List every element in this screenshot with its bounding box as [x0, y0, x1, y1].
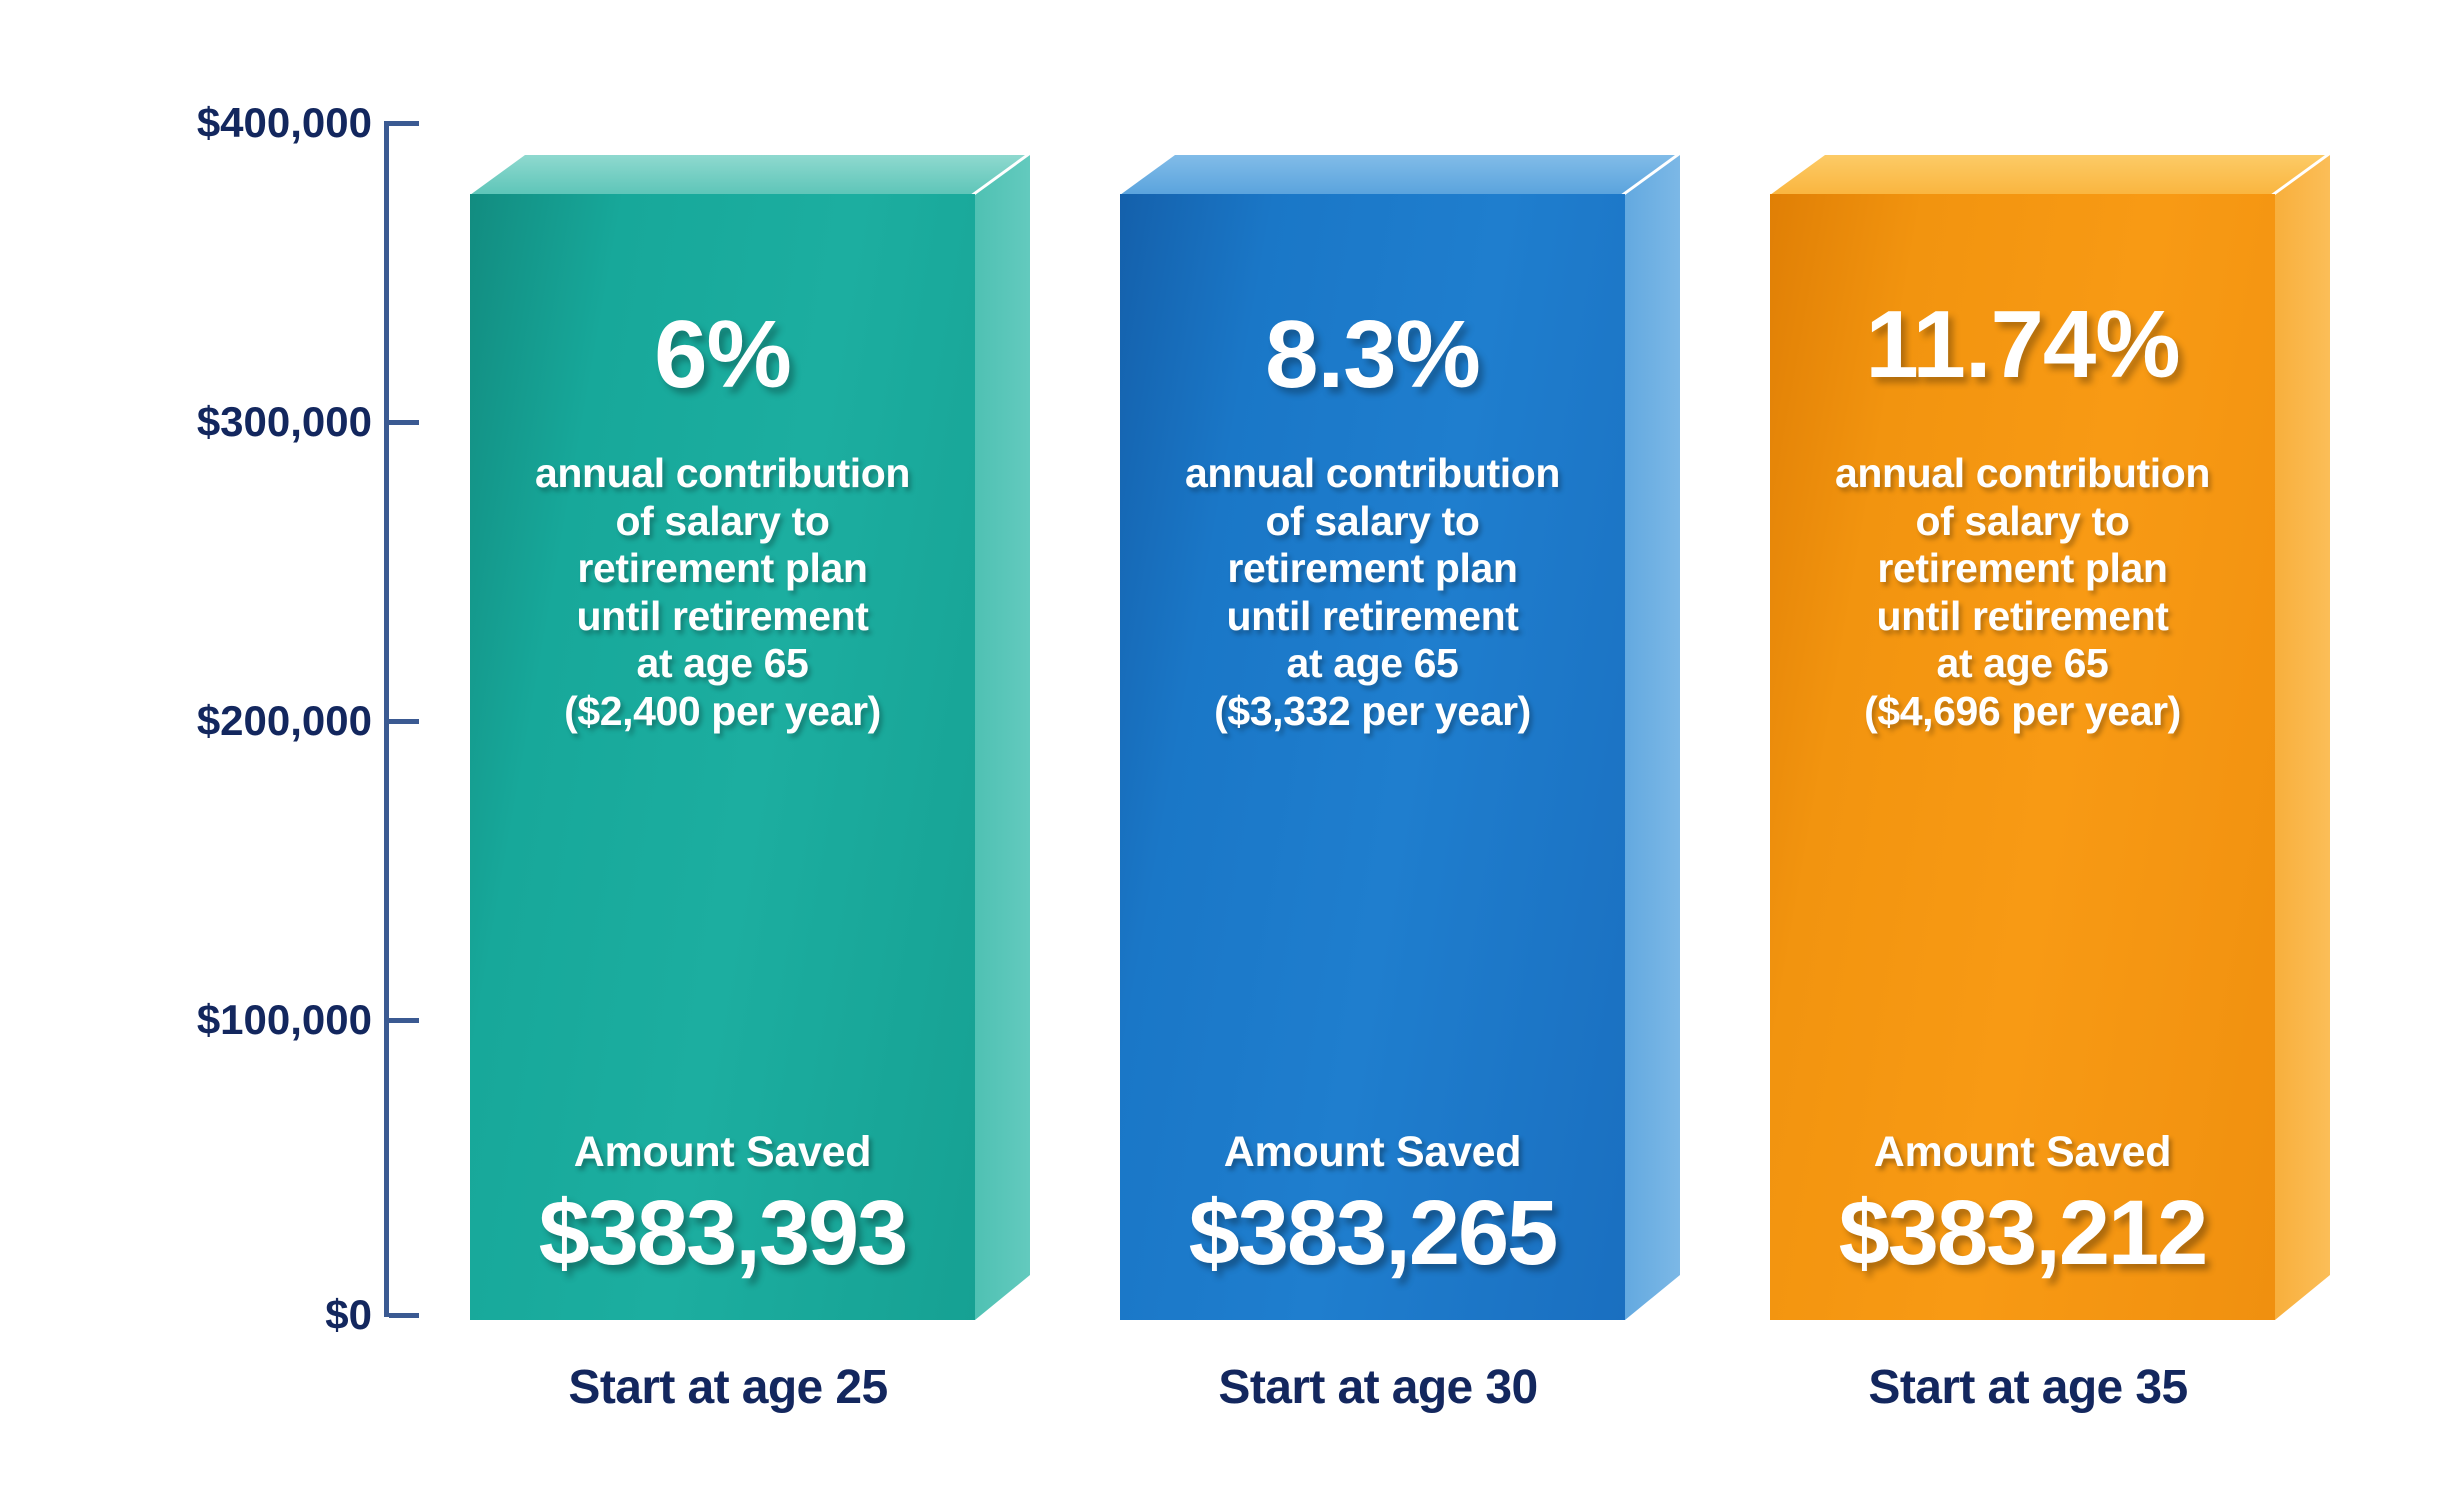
- bar-top-face-1: [470, 155, 1025, 195]
- bar-side-face-1: [975, 155, 1030, 1320]
- y-axis-tick-300000: [389, 420, 419, 425]
- category-label-start-at-age-35: Start at age 35: [1768, 1360, 2288, 1415]
- bar-top-face-3: [1770, 155, 2325, 195]
- y-axis-label-300000: $300,000: [72, 398, 372, 446]
- bar-front-face-1: [470, 194, 975, 1320]
- y-axis-tick-0: [389, 1313, 419, 1318]
- chart-canvas: $400,000 $300,000 $200,000 $100,000 $0 6…: [0, 0, 2440, 1504]
- y-axis-label-200000: $200,000: [72, 697, 372, 745]
- category-label-start-at-age-30: Start at age 30: [1118, 1360, 1638, 1415]
- y-axis-tick-200000: [389, 719, 419, 724]
- bar-side-face-2: [1625, 155, 1680, 1320]
- y-axis-tick-400000: [389, 121, 419, 126]
- bar-front-face-2: [1120, 194, 1625, 1320]
- y-axis-tick-100000: [389, 1018, 419, 1023]
- y-axis-label-400000: $400,000: [72, 99, 372, 147]
- y-axis-label-0: $0: [72, 1291, 372, 1339]
- bar-top-face-2: [1120, 155, 1675, 195]
- category-label-start-at-age-25: Start at age 25: [468, 1360, 988, 1415]
- y-axis-label-100000: $100,000: [72, 996, 372, 1044]
- bar-side-face-3: [2275, 155, 2330, 1320]
- bar-front-face-3: [1770, 194, 2275, 1320]
